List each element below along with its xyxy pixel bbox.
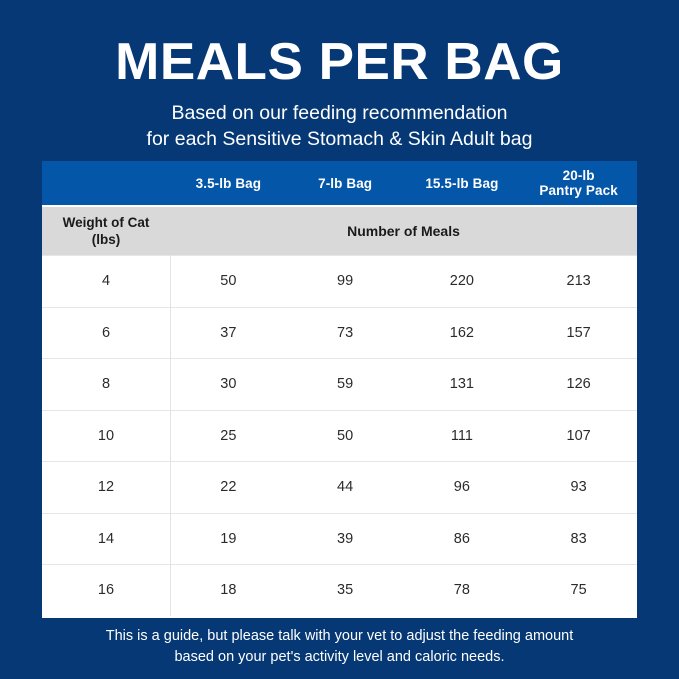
weight-of-cat-line2: (lbs) bbox=[92, 232, 121, 247]
column-header-bag-20-pantry: 20-lb Pantry Pack bbox=[520, 168, 637, 198]
cell-bag-20: 213 bbox=[520, 273, 637, 289]
column-header-bag-20-line2: Pantry Pack bbox=[539, 183, 617, 198]
cell-bag-3-5: 37 bbox=[170, 325, 287, 341]
cell-bag-3-5: 30 bbox=[170, 376, 287, 392]
table-row: 14 19 39 86 83 bbox=[42, 513, 637, 565]
cell-bag-7: 59 bbox=[287, 376, 404, 392]
cell-bag-20: 107 bbox=[520, 428, 637, 444]
cell-weight: 8 bbox=[42, 376, 170, 392]
cell-bag-20: 157 bbox=[520, 325, 637, 341]
table-row: 12 22 44 96 93 bbox=[42, 461, 637, 513]
column-header-bag-3-5: 3.5-lb Bag bbox=[170, 176, 287, 191]
table-row: 6 37 73 162 157 bbox=[42, 307, 637, 359]
heading-block: MEALS PER BAG Based on our feeding recom… bbox=[0, 0, 679, 152]
table-column-header-row: 3.5-lb Bag 7-lb Bag 15.5-lb Bag 20-lb Pa… bbox=[42, 161, 637, 205]
meals-table: 3.5-lb Bag 7-lb Bag 15.5-lb Bag 20-lb Pa… bbox=[42, 161, 637, 618]
table-row: 4 50 99 220 213 bbox=[42, 255, 637, 307]
cell-bag-20: 126 bbox=[520, 376, 637, 392]
meals-per-bag-poster: MEALS PER BAG Based on our feeding recom… bbox=[0, 0, 679, 679]
table-body: 4 50 99 220 213 6 37 73 162 157 8 30 59 … bbox=[42, 255, 637, 616]
column-divider bbox=[170, 255, 171, 616]
cell-bag-15-5: 220 bbox=[404, 273, 521, 289]
cell-bag-7: 44 bbox=[287, 479, 404, 495]
cell-bag-7: 50 bbox=[287, 428, 404, 444]
weight-of-cat-line1: Weight of Cat bbox=[63, 215, 150, 230]
subtitle-line-2: for each Sensitive Stomach & Skin Adult … bbox=[80, 126, 600, 152]
cell-bag-3-5: 19 bbox=[170, 531, 287, 547]
footer-disclaimer: This is a guide, but please talk with yo… bbox=[0, 626, 679, 668]
cell-bag-3-5: 50 bbox=[170, 273, 287, 289]
cell-weight: 14 bbox=[42, 531, 170, 547]
cell-bag-3-5: 18 bbox=[170, 582, 287, 598]
cell-bag-15-5: 131 bbox=[404, 376, 521, 392]
column-header-bag-7: 7-lb Bag bbox=[287, 176, 404, 191]
cell-bag-15-5: 78 bbox=[404, 582, 521, 598]
cell-bag-7: 39 bbox=[287, 531, 404, 547]
cell-weight: 6 bbox=[42, 325, 170, 341]
cell-bag-3-5: 22 bbox=[170, 479, 287, 495]
table-row: 10 25 50 111 107 bbox=[42, 410, 637, 462]
cell-bag-7: 73 bbox=[287, 325, 404, 341]
table-row: 8 30 59 131 126 bbox=[42, 358, 637, 410]
table-bottom-edge bbox=[42, 616, 637, 618]
page-title: MEALS PER BAG bbox=[0, 33, 679, 91]
cell-weight: 4 bbox=[42, 273, 170, 289]
page-subtitle: Based on our feeding recommendation for … bbox=[80, 100, 600, 152]
subtitle-line-1: Based on our feeding recommendation bbox=[80, 100, 600, 126]
cell-bag-15-5: 111 bbox=[404, 428, 521, 444]
weight-of-cat-label: Weight of Cat (lbs) bbox=[42, 214, 170, 248]
cell-bag-15-5: 96 bbox=[404, 479, 521, 495]
cell-weight: 12 bbox=[42, 479, 170, 495]
table-row: 16 18 35 78 75 bbox=[42, 564, 637, 616]
footer-line-2: based on your pet's activity level and c… bbox=[0, 647, 679, 668]
cell-bag-7: 99 bbox=[287, 273, 404, 289]
cell-bag-20: 93 bbox=[520, 479, 637, 495]
cell-weight: 10 bbox=[42, 428, 170, 444]
cell-bag-20: 83 bbox=[520, 531, 637, 547]
cell-bag-20: 75 bbox=[520, 582, 637, 598]
column-header-bag-15-5: 15.5-lb Bag bbox=[404, 176, 521, 191]
number-of-meals-label: Number of Meals bbox=[170, 223, 637, 239]
cell-weight: 16 bbox=[42, 582, 170, 598]
footer-line-1: This is a guide, but please talk with yo… bbox=[0, 626, 679, 647]
table-subheader-band: Weight of Cat (lbs) Number of Meals bbox=[42, 205, 637, 255]
cell-bag-3-5: 25 bbox=[170, 428, 287, 444]
column-header-bag-20-line1: 20-lb bbox=[563, 168, 595, 183]
cell-bag-15-5: 86 bbox=[404, 531, 521, 547]
cell-bag-15-5: 162 bbox=[404, 325, 521, 341]
cell-bag-7: 35 bbox=[287, 582, 404, 598]
